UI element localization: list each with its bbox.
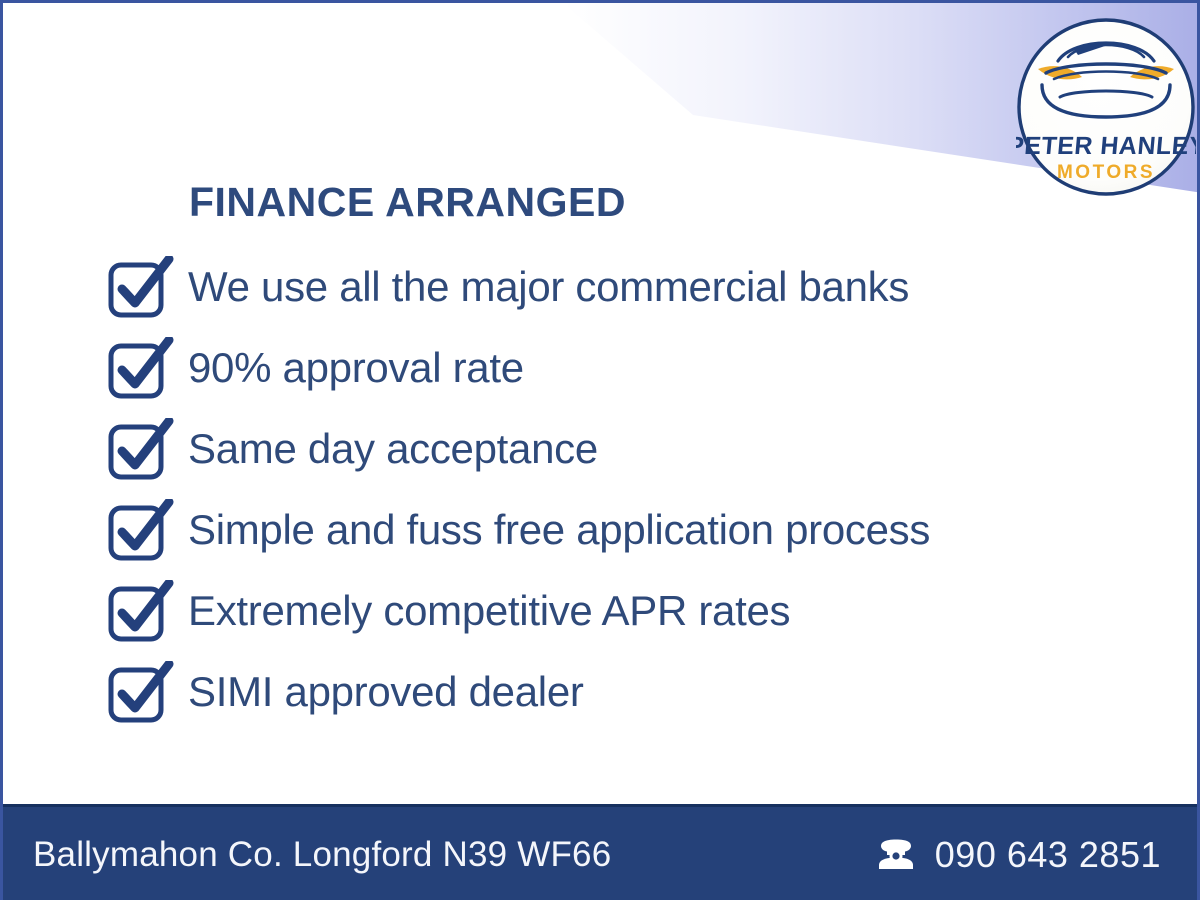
checkbox-checked-icon — [107, 580, 179, 642]
list-item-label: We use all the major commercial banks — [188, 266, 909, 308]
logo-brand-line2: MOTORS — [1057, 162, 1155, 183]
list-item: We use all the major commercial banks — [107, 246, 1107, 327]
checkbox-checked-icon — [107, 337, 179, 399]
footer-phone-number: 090 643 2851 — [935, 834, 1161, 876]
company-logo: PETER HANLEY MOTORS — [1016, 11, 1196, 203]
checkbox-checked-icon — [107, 499, 179, 561]
list-item: Same day acceptance — [107, 408, 1107, 489]
list-item: Extremely competitive APR rates — [107, 570, 1107, 651]
finance-arranged-poster: PETER HANLEY MOTORS FINANCE ARRANGED We … — [0, 0, 1200, 900]
list-item: SIMI approved dealer — [107, 651, 1107, 732]
list-item: 90% approval rate — [107, 327, 1107, 408]
footer-address: Ballymahon Co. Longford N39 WF66 — [33, 835, 611, 875]
list-item-label: SIMI approved dealer — [188, 671, 584, 713]
checkbox-checked-icon — [107, 661, 179, 723]
telephone-icon — [875, 838, 917, 872]
checkbox-checked-icon — [107, 256, 179, 318]
list-item-label: Simple and fuss free application process — [188, 509, 930, 551]
list-item-label: Same day acceptance — [188, 428, 598, 470]
checkbox-checked-icon — [107, 418, 179, 480]
list-item: Simple and fuss free application process — [107, 489, 1107, 570]
benefits-checklist: We use all the major commercial banks 90… — [107, 246, 1107, 732]
logo-brand-line1: PETER HANLEY — [1016, 132, 1196, 160]
page-title: FINANCE ARRANGED — [189, 179, 626, 226]
contact-footer-bar: Ballymahon Co. Longford N39 WF66 090 643… — [3, 804, 1200, 900]
footer-phone-group: 090 643 2851 — [875, 834, 1161, 876]
list-item-label: Extremely competitive APR rates — [188, 590, 790, 632]
list-item-label: 90% approval rate — [188, 347, 524, 389]
